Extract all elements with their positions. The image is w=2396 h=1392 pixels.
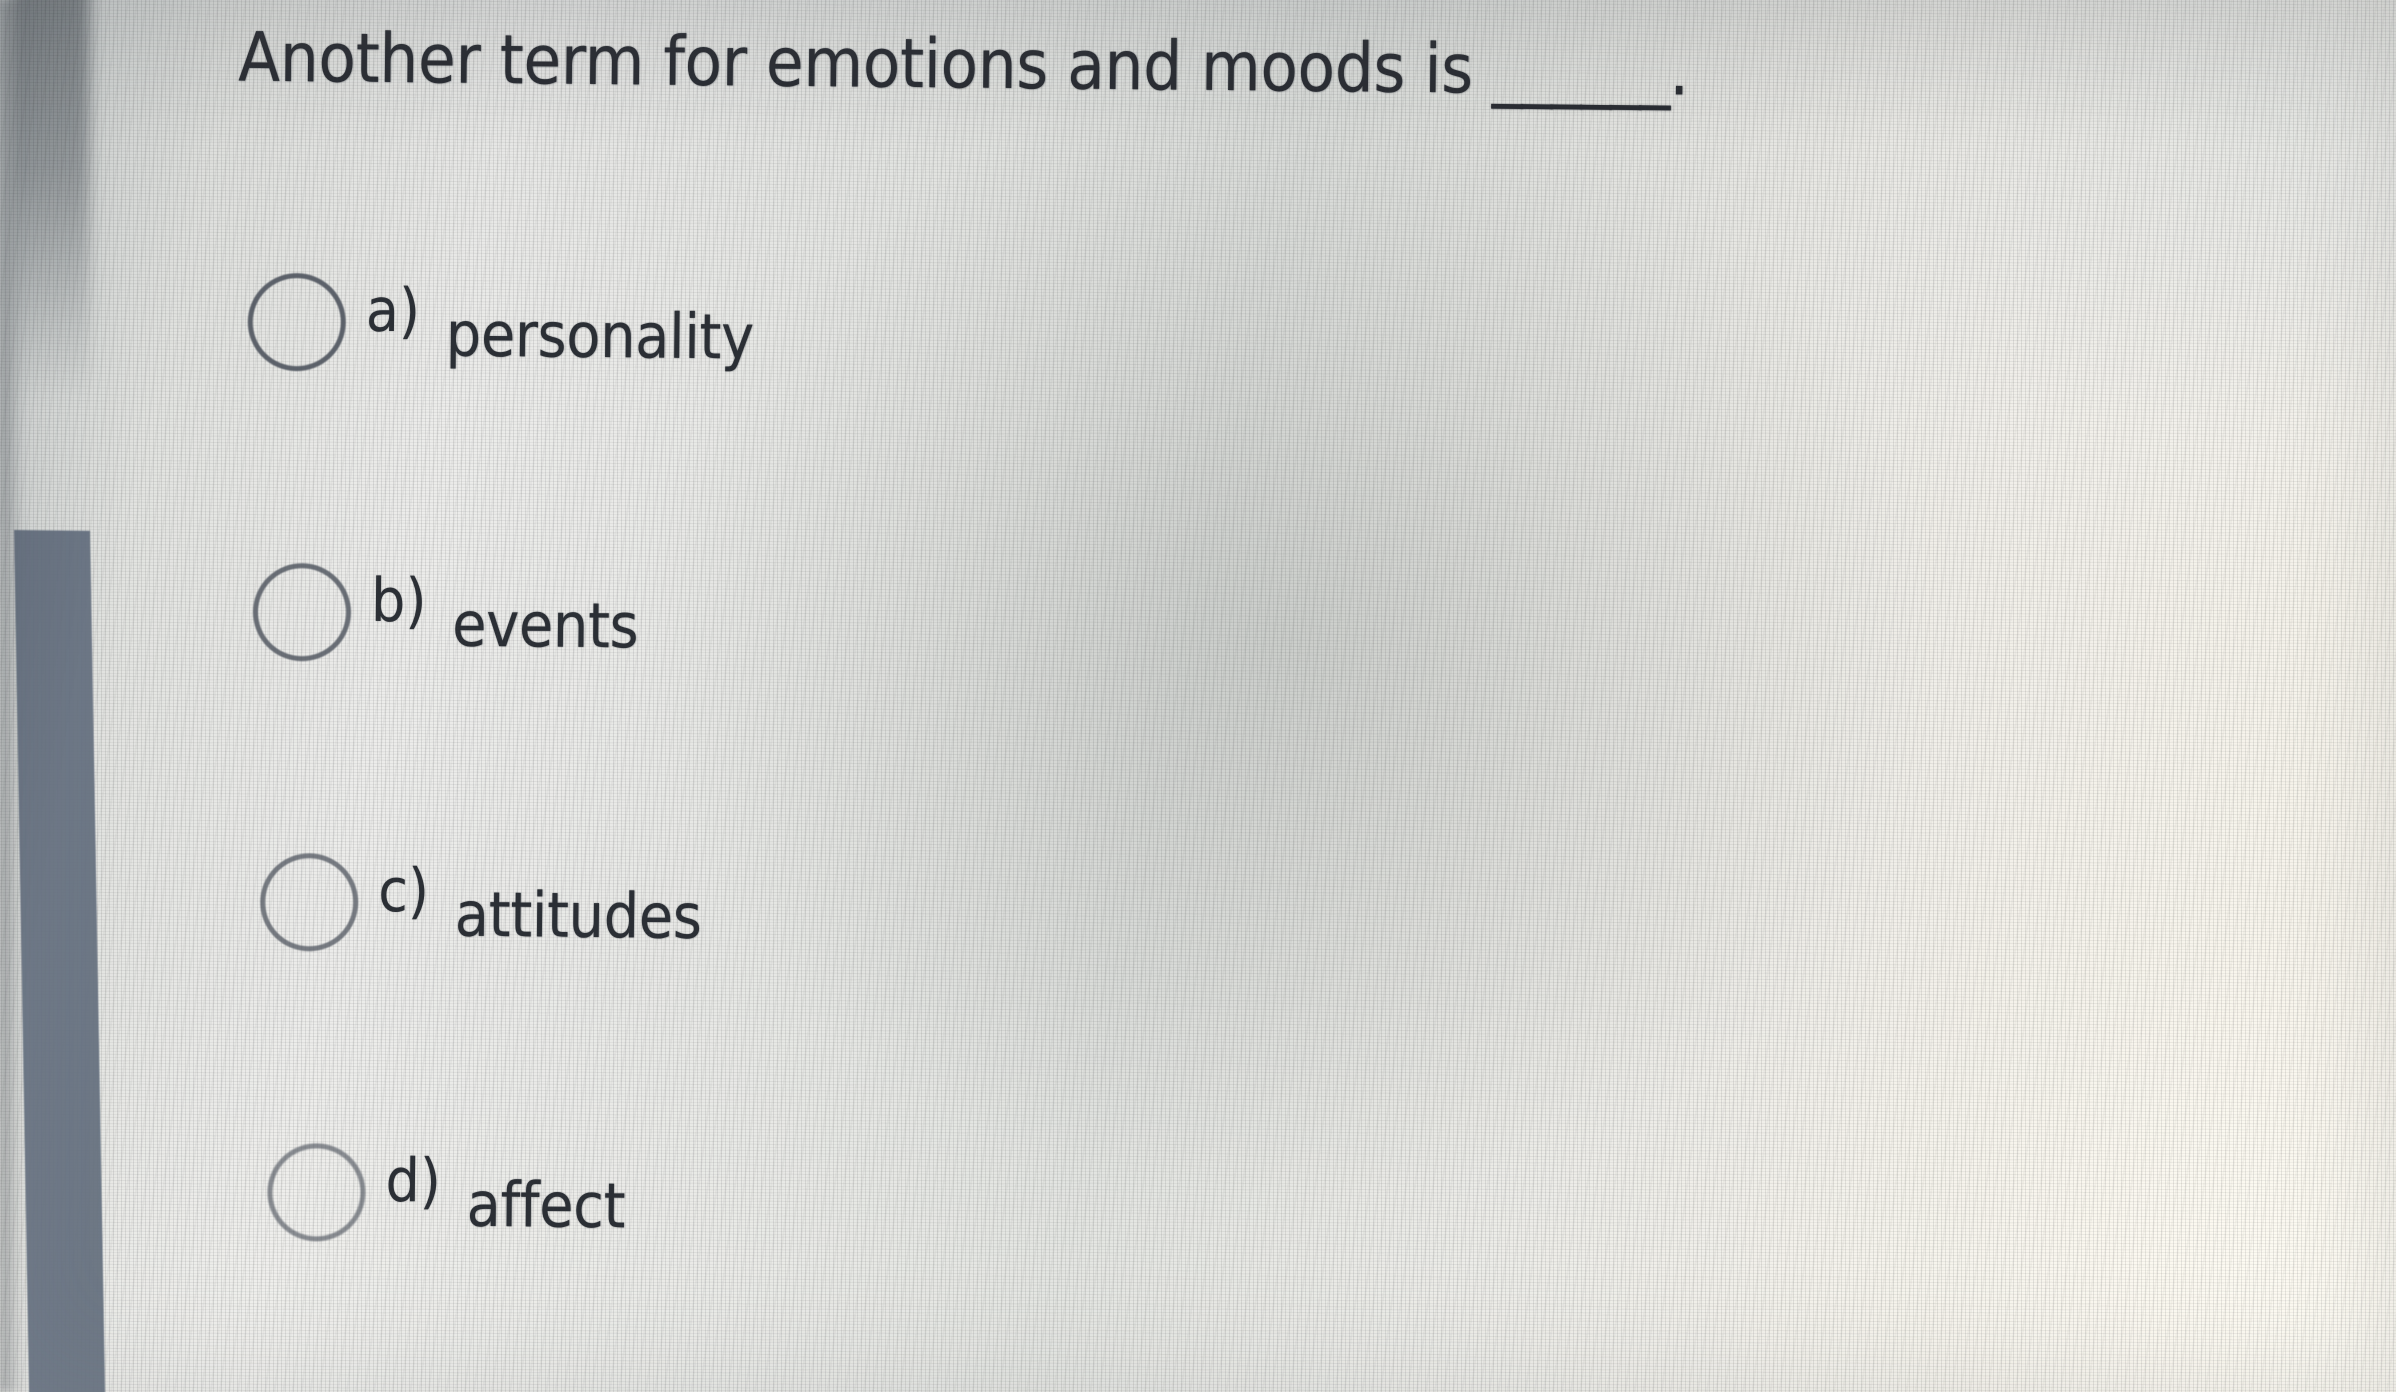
question-period: .	[1669, 32, 1689, 111]
option-d-label[interactable]: affect	[466, 1167, 625, 1242]
option-c-label[interactable]: attitudes	[455, 877, 702, 952]
quiz-content: Another term for emotions and moods is _…	[0, 0, 2396, 1392]
question-prefix: Another term for emotions and moods is	[238, 19, 1493, 110]
option-d[interactable]: d) affect	[267, 1143, 626, 1244]
option-c-letter: c)	[378, 856, 429, 926]
option-a[interactable]: a) personality	[247, 273, 754, 376]
quiz-screen-photo: Another term for emotions and moods is _…	[0, 0, 2396, 1392]
radio-button-a-icon[interactable]	[247, 273, 346, 372]
radio-button-c-icon[interactable]	[260, 853, 359, 952]
question-blank: ______	[1492, 31, 1670, 112]
option-a-letter: a)	[366, 276, 421, 347]
option-c[interactable]: c) attitudes	[260, 853, 702, 955]
radio-button-b-icon[interactable]	[253, 563, 352, 662]
option-b-label[interactable]: events	[452, 587, 639, 662]
question-text: Another term for emotions and moods is _…	[238, 25, 1689, 107]
option-a-label[interactable]: personality	[445, 297, 754, 373]
option-b[interactable]: b) events	[253, 563, 639, 665]
option-b-letter: b)	[371, 566, 427, 637]
option-d-letter: d)	[385, 1146, 441, 1217]
radio-button-d-icon[interactable]	[267, 1143, 366, 1242]
